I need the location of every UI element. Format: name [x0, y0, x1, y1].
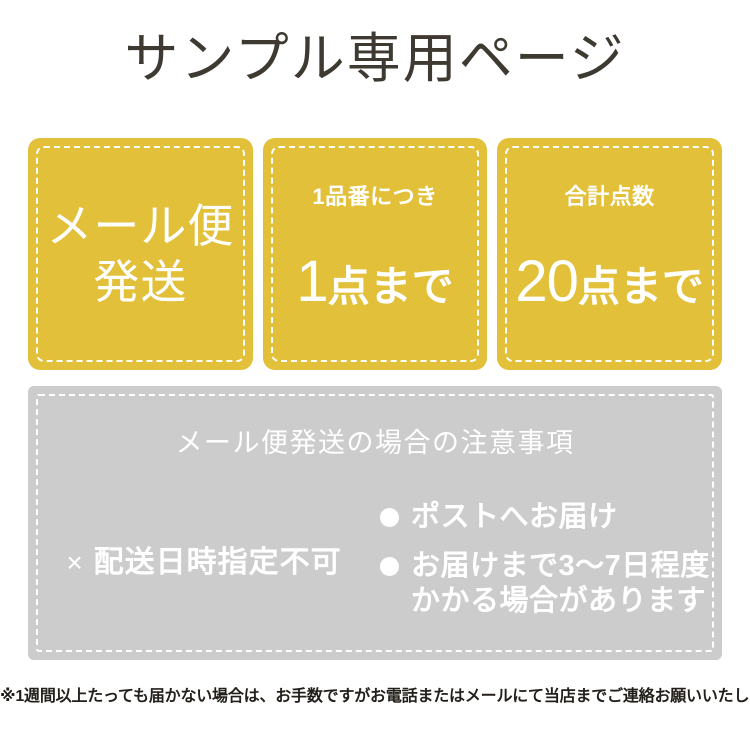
bullet-line-1: お届けまで3〜7日程度	[411, 550, 710, 582]
total-limit-caption: 合計点数	[503, 184, 716, 210]
per-item-limit-value: 1点まで	[269, 254, 482, 325]
list-item: お届けまで3〜7日程度 かかる場合があります	[380, 549, 722, 619]
bullet-dot-icon	[380, 508, 399, 527]
per-item-limit-caption: 1品番につき	[269, 184, 482, 210]
feature-box-shipping-method: メール便 発送	[28, 138, 253, 370]
page-title: サンプル専用ページ	[0, 28, 750, 90]
per-item-limit-content: 1品番につき 1点まで	[263, 184, 488, 325]
bullet-line-1: ポストへお届け	[411, 501, 618, 533]
per-item-limit-number: 1	[296, 249, 327, 314]
notice-heading: メール便発送の場合の注意事項	[28, 426, 722, 460]
shipping-method-line-2: 発送	[34, 254, 247, 310]
footer-note: ※1週間以上たっても届かない場合は、お手数ですがお電話またはメールにて当店までご…	[0, 686, 750, 708]
feature-box-per-item-limit: 1品番につき 1点まで	[263, 138, 488, 370]
shipping-method-line-1: メール便	[34, 198, 247, 254]
list-item: ポストへお届け	[380, 500, 722, 535]
bullet-line-2: かかる場合があります	[411, 584, 710, 619]
shipping-method-content: メール便 発送	[28, 198, 253, 310]
sample-shipping-info-banner: サンプル専用ページ メール便 発送 1品番につき 1点まで 合計点数	[0, 0, 750, 750]
bullet-text: ポストへお届け	[411, 500, 618, 535]
shipping-notice-panel: メール便発送の場合の注意事項 ×配送日時指定不可 ポストへお届け お届	[28, 386, 722, 660]
total-limit-unit: 点まで	[578, 263, 704, 310]
notice-body: ×配送日時指定不可 ポストへお届け お届けまで3〜7日程度 かかる場合があります	[28, 498, 722, 638]
bullet-dot-icon	[380, 557, 399, 576]
total-limit-content: 合計点数 20点まで	[497, 184, 722, 325]
total-limit-number: 20	[515, 249, 578, 314]
delivery-date-restriction: ×配送日時指定不可	[66, 545, 341, 581]
cross-mark-icon: ×	[66, 547, 83, 578]
feature-box-row: メール便 発送 1品番につき 1点まで 合計点数 20点まで	[28, 138, 722, 370]
delivery-date-restriction-label: 配送日時指定不可	[94, 546, 342, 579]
notice-restriction-column: ×配送日時指定不可	[28, 498, 380, 628]
total-limit-value: 20点まで	[503, 254, 716, 325]
bullet-text: お届けまで3〜7日程度 かかる場合があります	[411, 549, 710, 619]
per-item-limit-unit: 点まで	[328, 263, 454, 310]
notice-bullet-column: ポストへお届け お届けまで3〜7日程度 かかる場合があります	[380, 498, 722, 619]
feature-box-total-limit: 合計点数 20点まで	[497, 138, 722, 370]
